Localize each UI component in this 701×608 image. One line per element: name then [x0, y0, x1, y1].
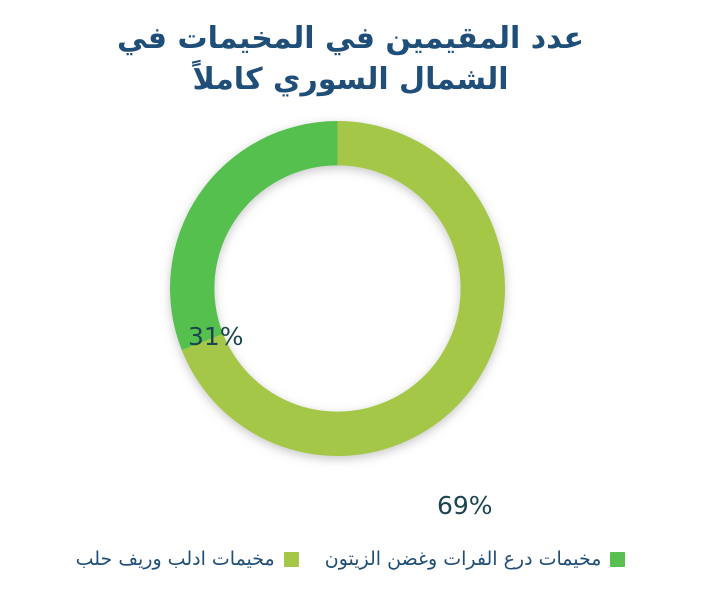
- legend-label-dera-alfurat: مخيمات درع الفرات وغضن الزيتون: [325, 549, 602, 570]
- legend-item-idlib-rif-halab[interactable]: مخيمات ادلب وريف حلب: [76, 549, 299, 570]
- donut-slices-group: [170, 121, 505, 456]
- legend-swatch-yellow-green-icon: [284, 552, 299, 567]
- legend-swatch-green-icon: [610, 552, 625, 567]
- donut-slice-small[interactable]: [170, 121, 338, 350]
- chart-legend: مخيمات درع الفرات وغضن الزيتون مخيمات اد…: [0, 549, 701, 570]
- data-label-69-percent: 69%: [437, 493, 493, 518]
- data-label-31-percent: 31%: [188, 324, 244, 349]
- plot-area: 31% 69% مخيمات درع الفرات وغضن الزيتون م…: [0, 101, 701, 608]
- donut-container: [170, 121, 505, 456]
- donut-chart-figure: عدد المقيمين في المخيمات في الشمال السور…: [0, 0, 701, 608]
- legend-item-dera-alfurat[interactable]: مخيمات درع الفرات وغضن الزيتون: [325, 549, 626, 570]
- legend-label-idlib-rif-halab: مخيمات ادلب وريف حلب: [76, 549, 275, 570]
- chart-title: عدد المقيمين في المخيمات في الشمال السور…: [0, 0, 701, 101]
- donut-svg: [170, 121, 505, 456]
